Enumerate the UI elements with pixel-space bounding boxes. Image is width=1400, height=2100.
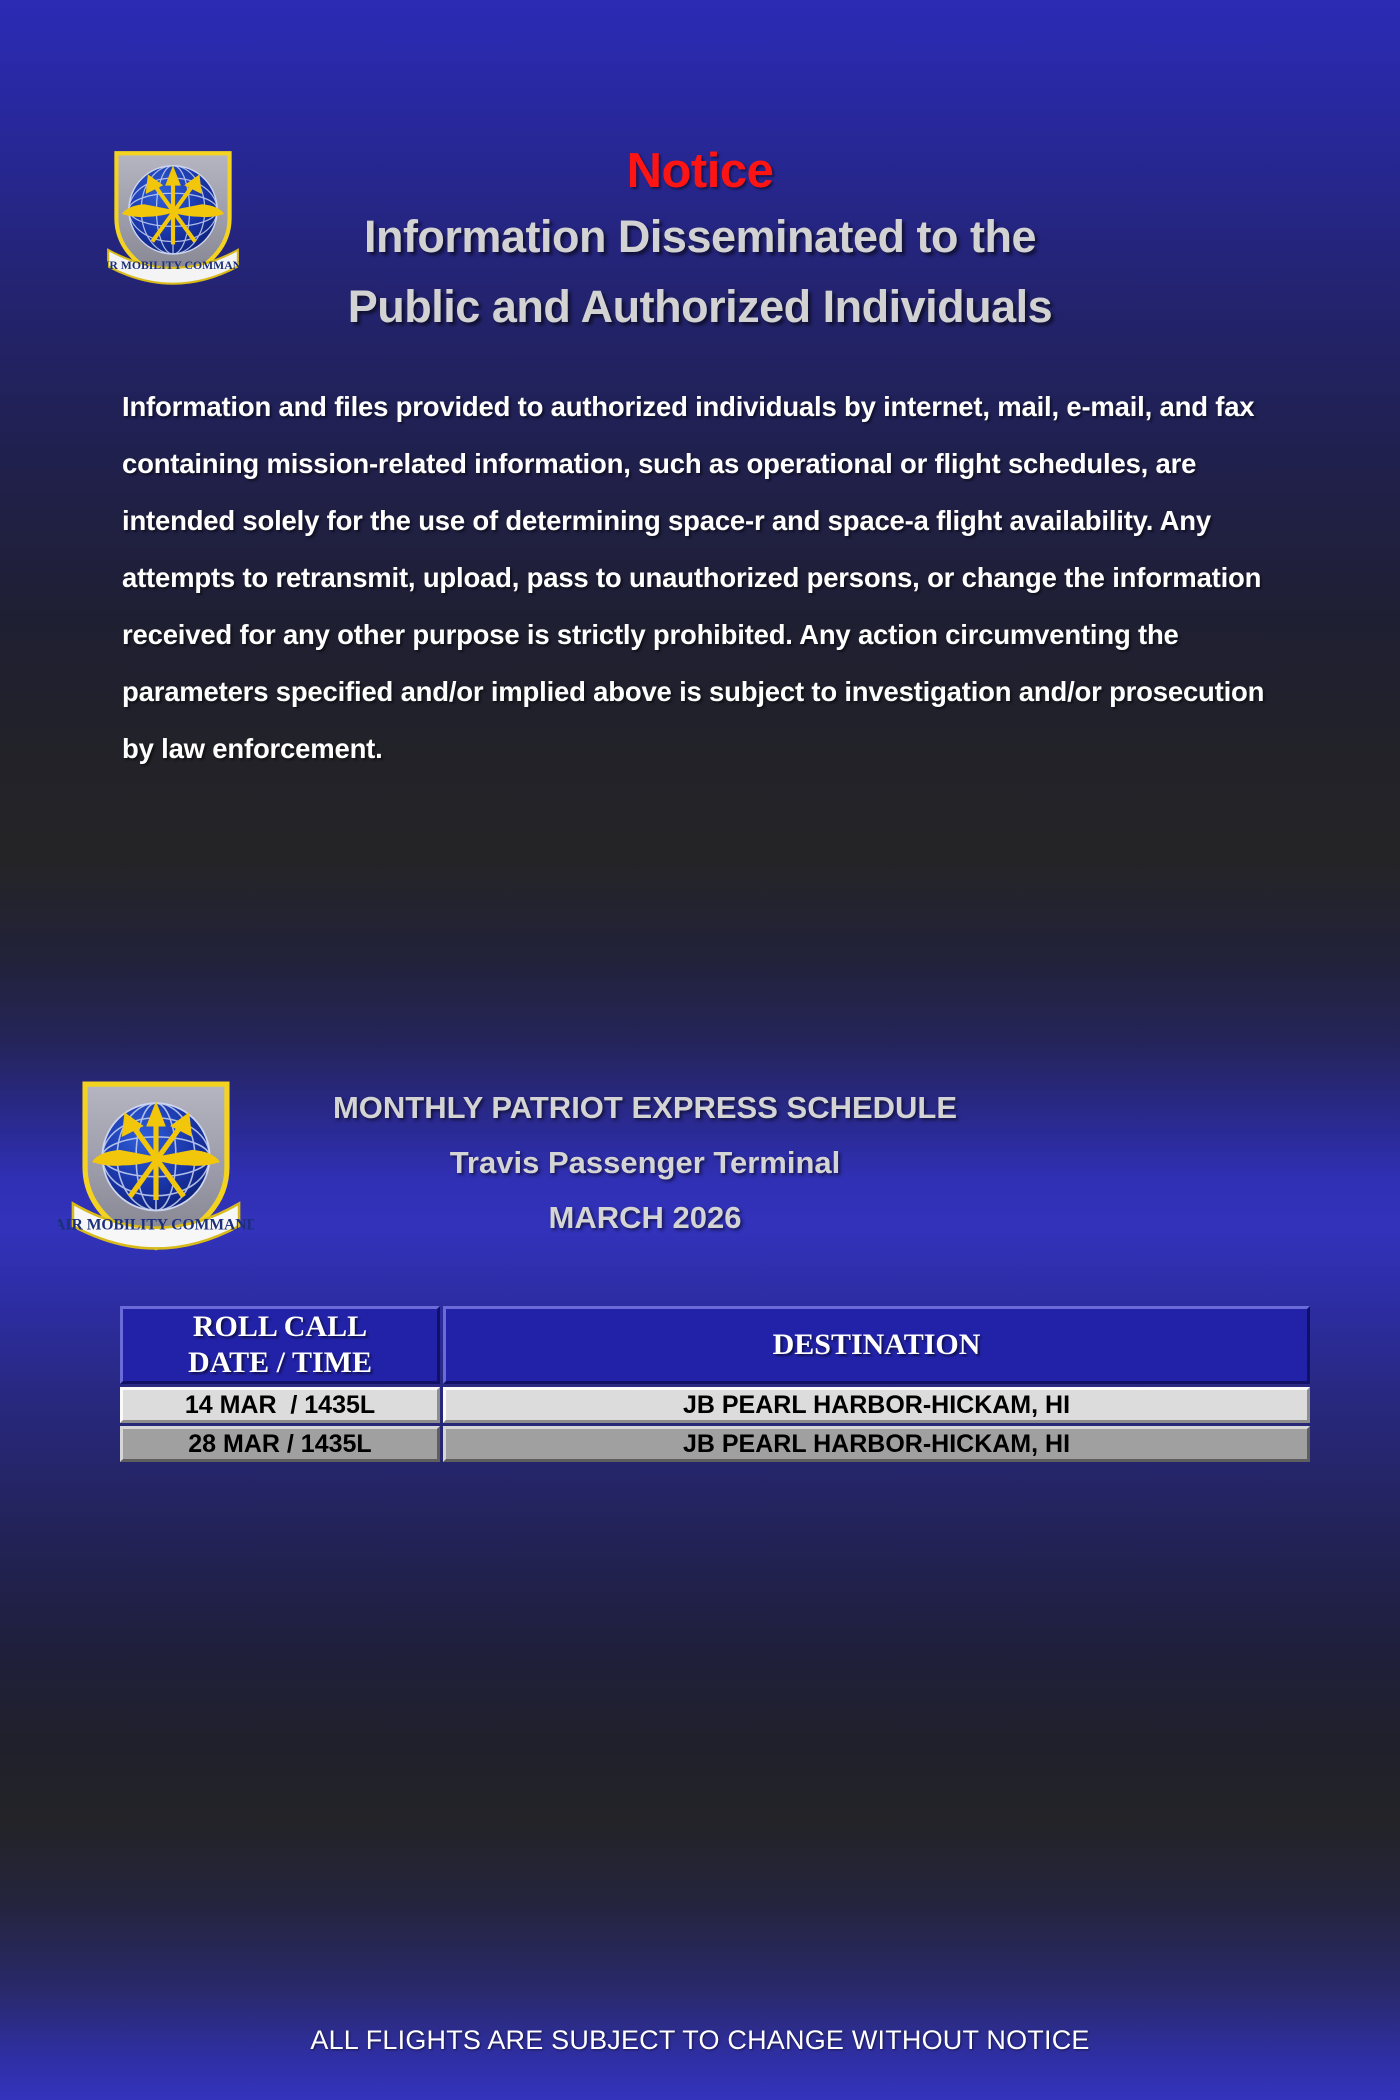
notice-alert-word: Notice bbox=[130, 140, 1270, 202]
poster-background: AIR MOBILITY COMMAND Notice Information … bbox=[0, 0, 1400, 2100]
column-header-destination: DESTINATION bbox=[443, 1306, 1310, 1384]
table-row[interactable]: 14 MAR / 1435L JB PEARL HARBOR-HICKAM, H… bbox=[120, 1387, 1310, 1423]
schedule-heading-line-2: Travis Passenger Terminal bbox=[240, 1135, 1050, 1190]
schedule-heading-line-1: MONTHLY PATRIOT EXPRESS SCHEDULE bbox=[240, 1080, 1050, 1135]
cell-destination: JB PEARL HARBOR-HICKAM, HI bbox=[443, 1387, 1310, 1423]
notice-heading: Notice Information Disseminated to the P… bbox=[130, 140, 1270, 342]
schedule-heading: MONTHLY PATRIOT EXPRESS SCHEDULE Travis … bbox=[240, 1080, 1050, 1245]
column-header-roll-call-line-2: DATE / TIME bbox=[123, 1345, 437, 1381]
notice-body-text: Information and files provided to author… bbox=[122, 378, 1297, 777]
cell-roll-call: 28 MAR / 1435L bbox=[120, 1426, 440, 1462]
patriot-express-schedule-table: ROLL CALL DATE / TIME DESTINATION 14 MAR… bbox=[117, 1303, 1313, 1465]
air-mobility-command-shield-icon: AIR MOBILITY COMMAND bbox=[58, 1072, 254, 1258]
notice-title-line-1: Information Disseminated to the bbox=[130, 202, 1270, 272]
schedule-heading-line-3: MARCH 2026 bbox=[240, 1190, 1050, 1245]
column-header-roll-call-line-1: ROLL CALL bbox=[123, 1309, 437, 1345]
cell-destination: JB PEARL HARBOR-HICKAM, HI bbox=[443, 1426, 1310, 1462]
shield-ribbon-text: AIR MOBILITY COMMAND bbox=[58, 1216, 254, 1233]
footer-disclaimer: ALL FLIGHTS ARE SUBJECT TO CHANGE WITHOU… bbox=[0, 2025, 1400, 2056]
notice-title-line-2: Public and Authorized Individuals bbox=[130, 272, 1270, 342]
table-row[interactable]: 28 MAR / 1435L JB PEARL HARBOR-HICKAM, H… bbox=[120, 1426, 1310, 1462]
table-header-row: ROLL CALL DATE / TIME DESTINATION bbox=[120, 1306, 1310, 1384]
cell-roll-call: 14 MAR / 1435L bbox=[120, 1387, 440, 1423]
column-header-roll-call: ROLL CALL DATE / TIME bbox=[120, 1306, 440, 1384]
